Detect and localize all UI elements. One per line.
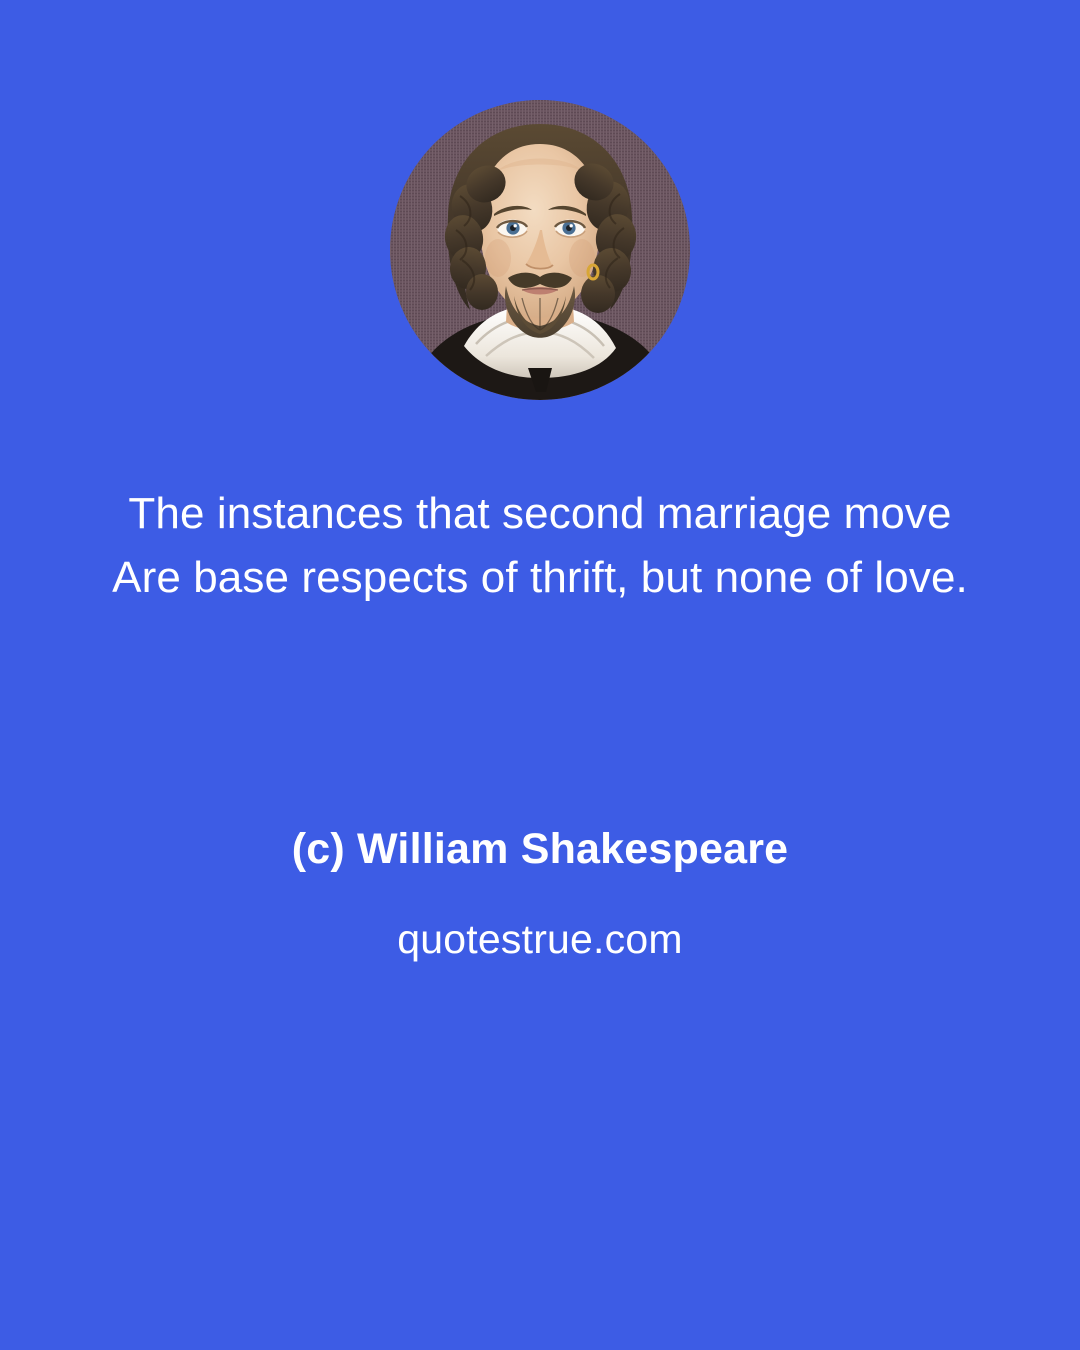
source-website: quotestrue.com <box>60 916 1020 963</box>
shakespeare-portrait-avatar <box>390 100 690 400</box>
quote-author: (c) William Shakespeare <box>60 825 1020 874</box>
quote-text: The instances that second marriage move … <box>60 482 1020 610</box>
shakespeare-portrait-icon <box>390 100 690 400</box>
quote-card: The instances that second marriage move … <box>0 0 1080 1350</box>
